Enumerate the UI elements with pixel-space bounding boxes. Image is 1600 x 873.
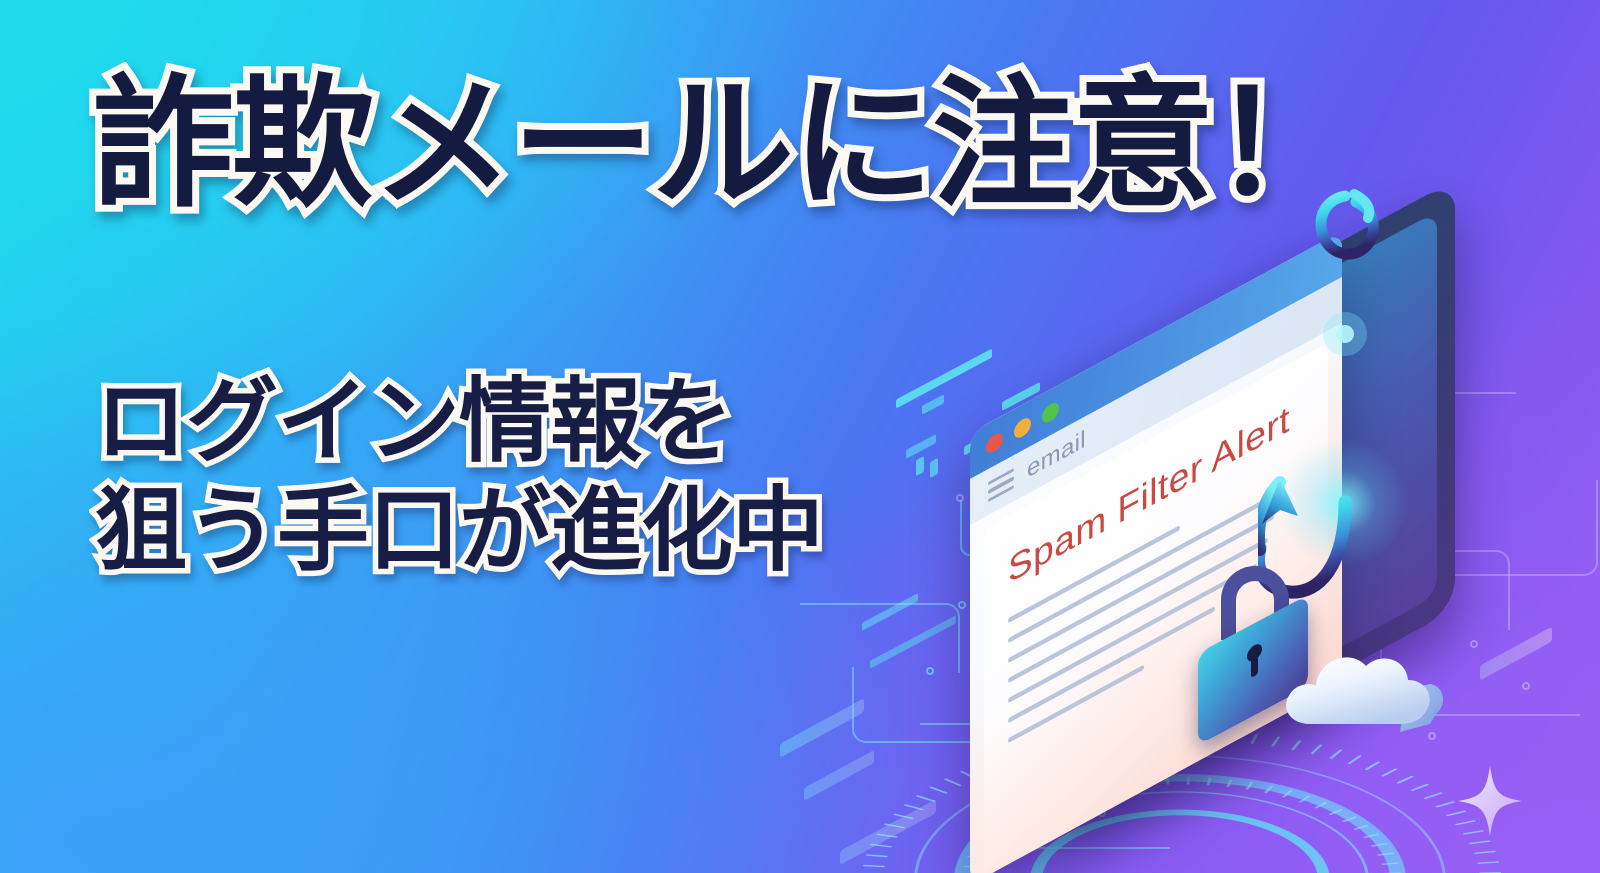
sparkle-star-icon xyxy=(1458,766,1522,836)
subtitle: ログイン情報を 狙う手口が進化中 xyxy=(95,368,823,585)
fishing-hook-icon xyxy=(1258,4,1428,664)
subtitle-line-1: ログイン情報を xyxy=(95,368,823,477)
padlock-keyhole xyxy=(1247,641,1262,664)
page-title: 詐欺メールに注意！ xyxy=(92,74,1352,216)
phishing-warning-banner: 詐欺メールに注意！ ログイン情報を 狙う手口が進化中 email S xyxy=(0,0,1600,873)
close-icon[interactable] xyxy=(986,430,1003,456)
maximize-icon[interactable] xyxy=(1042,399,1059,425)
email-text-line xyxy=(1008,664,1144,743)
cloud-icon xyxy=(1280,628,1450,738)
subtitle-line-2: 狙う手口が進化中 xyxy=(95,477,823,586)
phishing-illustration: email Spam Filter Alert xyxy=(860,240,1600,873)
hamburger-icon[interactable] xyxy=(988,468,1014,502)
minimize-icon[interactable] xyxy=(1014,414,1031,440)
